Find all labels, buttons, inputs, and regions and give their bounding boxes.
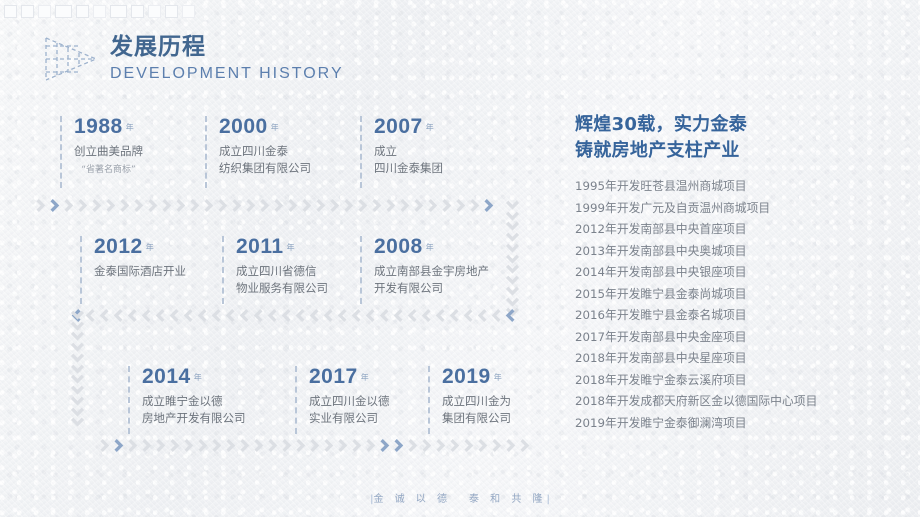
chevron-right-icon <box>408 438 421 453</box>
chevron-down-icon <box>70 353 85 364</box>
chevron-right-icon <box>148 198 161 213</box>
chevron-right-icon <box>240 438 253 453</box>
chevron-right-icon <box>288 198 301 213</box>
chevron-left-icon <box>208 308 221 323</box>
chevron-left-icon <box>264 308 277 323</box>
chevron-down-icon <box>70 331 85 342</box>
project-list-item: 1999年开发广元及自贡温州商城项目 <box>575 198 905 220</box>
chevron-right-icon <box>386 198 399 213</box>
slide-header: 发展历程 DEVELOPMENT HISTORY <box>40 34 344 84</box>
chevron-right-icon <box>260 198 273 213</box>
chevron-right-icon <box>142 438 155 453</box>
chevron-left-icon <box>418 308 431 323</box>
timeline-year: 2012年 <box>94 236 186 258</box>
chevron-right-icon <box>114 438 127 453</box>
chevron-right-icon <box>128 438 141 453</box>
chevron-right-icon <box>316 198 329 213</box>
timeline-year: 2019年 <box>442 366 511 388</box>
chevron-left-icon <box>376 308 389 323</box>
project-list-item: 2018年开发睢宁金泰云溪府项目 <box>575 370 905 392</box>
decorative-square <box>182 5 195 18</box>
year-unit: 年 <box>271 123 280 132</box>
chevron-down-icon <box>70 310 85 321</box>
chevron-left-icon <box>488 308 501 323</box>
chevron-left-icon <box>278 308 291 323</box>
chevron-left-icon <box>222 308 235 323</box>
timeline-description: 成立四川金以德 实业有限公司 <box>309 393 390 426</box>
footer-text-left: 金 诚 以 德 <box>373 494 451 505</box>
chevron-rail-down-left <box>70 310 85 428</box>
chevron-left-icon <box>194 308 207 323</box>
chevron-right-icon <box>198 438 211 453</box>
project-list-item: 1995年开发旺苍县温州商城项目 <box>575 176 905 198</box>
chevron-right-icon <box>282 438 295 453</box>
timeline-entry-2000[interactable]: 2000年 成立四川金泰 纺织集团有限公司 <box>205 116 311 188</box>
chevron-down-icon <box>505 200 520 211</box>
chevron-down-icon <box>505 286 520 297</box>
project-list-item: 2013年开发南部县中央奥城项目 <box>575 241 905 263</box>
project-list: 1995年开发旺苍县温州商城项目1999年开发广元及自贡温州商城项目2012年开… <box>575 176 905 434</box>
chevron-right-icon <box>428 198 441 213</box>
slide-footer: |金 诚 以 德泰 和 共 隆| <box>0 490 920 505</box>
chevron-right-icon <box>358 198 371 213</box>
right-panel: 辉煌30载，实力金泰 铸就房地产支柱产业 1995年开发旺苍县温州商城项目199… <box>575 112 905 434</box>
chevron-right-icon <box>204 198 217 213</box>
chevron-down-icon <box>70 417 85 428</box>
chevron-right-icon <box>344 198 357 213</box>
heading-line-2: 铸就房地产支柱产业 <box>575 140 740 161</box>
chevron-right-icon <box>484 198 497 213</box>
chevron-down-icon <box>505 243 520 254</box>
chevron-down-icon <box>70 396 85 407</box>
timeline-entry-2007[interactable]: 2007年 成立 四川金泰集团 <box>360 116 443 188</box>
decorative-square <box>93 5 106 18</box>
timeline-entry-2019[interactable]: 2019年 成立四川金为 集团有限公司 <box>428 366 511 434</box>
chevron-right-icon <box>400 198 413 213</box>
chevron-rail-row1 <box>36 198 506 213</box>
chevron-right-icon <box>324 438 337 453</box>
chevron-right-icon <box>422 438 435 453</box>
timeline-description: 成立 四川金泰集团 <box>374 143 443 176</box>
chevron-right-icon <box>366 438 379 453</box>
chevron-right-icon <box>470 198 483 213</box>
chevron-right-icon <box>520 438 533 453</box>
chevron-right-icon <box>478 438 491 453</box>
year-unit: 年 <box>146 243 155 252</box>
chevron-right-icon <box>232 198 245 213</box>
chevron-left-icon <box>362 308 375 323</box>
chevron-down-icon <box>70 321 85 332</box>
timeline-entry-2014[interactable]: 2014年 成立睢宁金以德 房地产开发有限公司 <box>128 366 246 434</box>
chevron-right-icon <box>120 198 133 213</box>
timeline-entry-2017[interactable]: 2017年 成立四川金以德 实业有限公司 <box>295 366 390 434</box>
chevron-right-icon <box>436 438 449 453</box>
chevron-right-icon <box>394 438 407 453</box>
chevron-left-icon <box>348 308 361 323</box>
chevron-left-icon <box>180 308 193 323</box>
chevron-right-icon <box>226 438 239 453</box>
chevron-left-icon <box>166 308 179 323</box>
project-list-item: 2018年开发南部县中央星座项目 <box>575 348 905 370</box>
chevron-right-icon <box>184 438 197 453</box>
chevron-right-icon <box>296 438 309 453</box>
chevron-right-icon <box>274 198 287 213</box>
chevron-left-icon <box>152 308 165 323</box>
chevron-left-icon <box>404 308 417 323</box>
decorative-square <box>55 5 72 18</box>
chevron-down-icon <box>70 407 85 418</box>
chevron-down-icon <box>70 364 85 375</box>
chevron-right-icon <box>372 198 385 213</box>
project-list-item: 2019年开发睢宁金泰御澜湾项目 <box>575 413 905 435</box>
project-list-item: 2016年开发睢宁县金泰名城项目 <box>575 305 905 327</box>
chevron-right-icon <box>456 198 469 213</box>
chevron-right-icon <box>442 198 455 213</box>
chevron-right-icon <box>380 438 393 453</box>
dashed-triangle-logo-icon <box>40 34 100 84</box>
chevron-right-icon <box>506 438 519 453</box>
timeline-subnote: “省著名商标” <box>74 162 143 175</box>
chevron-right-icon <box>162 198 175 213</box>
chevron-right-icon <box>352 438 365 453</box>
chevron-left-icon <box>236 308 249 323</box>
timeline: 1988年 创立曲美品牌 “省著名商标” 2000年 成立四川金泰 纺织集团有限… <box>0 108 560 468</box>
project-list-item: 2014年开发南部县中央银座项目 <box>575 262 905 284</box>
chevron-right-icon <box>176 198 189 213</box>
footer-text-right: 泰 和 共 隆 <box>469 494 547 505</box>
chevron-down-icon <box>70 342 85 353</box>
chevron-left-icon <box>124 308 137 323</box>
decorative-square <box>131 5 144 18</box>
chevron-down-icon <box>505 232 520 243</box>
chevron-right-icon <box>338 438 351 453</box>
chevron-right-icon <box>36 198 49 213</box>
chevron-right-icon <box>106 198 119 213</box>
chevron-left-icon <box>250 308 263 323</box>
chevron-right-icon <box>254 438 267 453</box>
chevron-right-icon <box>414 198 427 213</box>
footer-bar-right: | <box>547 494 550 505</box>
timeline-year: 2014年 <box>142 366 246 388</box>
chevron-right-icon <box>92 198 105 213</box>
timeline-description: 金泰国际酒店开业 <box>94 263 186 280</box>
timeline-description: 成立睢宁金以德 房地产开发有限公司 <box>142 393 246 426</box>
decorative-square <box>110 5 127 18</box>
decorative-squares <box>4 5 195 18</box>
chevron-down-icon <box>505 275 520 286</box>
chevron-right-icon <box>302 198 315 213</box>
timeline-year: 2011年 <box>236 236 328 258</box>
chevron-right-icon <box>246 198 259 213</box>
chevron-rail-row3 <box>100 438 540 453</box>
chevron-right-icon <box>190 198 203 213</box>
timeline-year: 1988年 <box>74 116 143 138</box>
timeline-year: 2017年 <box>309 366 390 388</box>
chevron-right-icon <box>78 198 91 213</box>
chevron-right-icon <box>218 198 231 213</box>
timeline-year: 2007年 <box>374 116 443 138</box>
chevron-rail-row2 <box>68 308 518 323</box>
chevron-right-icon <box>330 198 343 213</box>
timeline-year: 2008年 <box>374 236 489 258</box>
chevron-right-icon <box>156 438 169 453</box>
right-panel-heading: 辉煌30载，实力金泰 铸就房地产支柱产业 <box>575 112 905 164</box>
chevron-rail-down-right <box>505 200 520 318</box>
timeline-description: 成立南部县金宇房地产 开发有限公司 <box>374 263 489 296</box>
project-list-item: 2017年开发南部县中央金座项目 <box>575 327 905 349</box>
chevron-right-icon <box>64 198 77 213</box>
chevron-right-icon <box>464 438 477 453</box>
decorative-square <box>4 5 17 18</box>
chevron-down-icon <box>70 385 85 396</box>
year-unit: 年 <box>194 373 203 382</box>
chevron-down-icon <box>505 221 520 232</box>
chevron-right-icon <box>134 198 147 213</box>
chevron-right-icon <box>492 438 505 453</box>
chevron-left-icon <box>334 308 347 323</box>
chevron-right-icon <box>100 438 113 453</box>
chevron-right-icon <box>310 438 323 453</box>
timeline-entry-2012[interactable]: 2012年 金泰国际酒店开业 <box>80 236 186 304</box>
timeline-entry-2008[interactable]: 2008年 成立南部县金宇房地产 开发有限公司 <box>360 236 489 304</box>
page-subtitle: DEVELOPMENT HISTORY <box>110 66 344 82</box>
chevron-left-icon <box>110 308 123 323</box>
chevron-left-icon <box>390 308 403 323</box>
year-unit: 年 <box>287 243 296 252</box>
timeline-entry-1988[interactable]: 1988年 创立曲美品牌 “省著名商标” <box>60 116 143 188</box>
timeline-description: 成立四川省德信 物业服务有限公司 <box>236 263 328 296</box>
chevron-right-icon <box>50 198 63 213</box>
timeline-description: 成立四川金为 集团有限公司 <box>442 393 511 426</box>
project-list-item: 2012年开发南部县中央首座项目 <box>575 219 905 241</box>
chevron-left-icon <box>292 308 305 323</box>
chevron-left-icon <box>138 308 151 323</box>
year-unit: 年 <box>494 373 503 382</box>
decorative-square <box>21 5 34 18</box>
chevron-left-icon <box>474 308 487 323</box>
decorative-square <box>76 5 89 18</box>
chevron-left-icon <box>96 308 109 323</box>
chevron-left-icon <box>502 308 515 323</box>
chevron-right-icon <box>268 438 281 453</box>
project-list-item: 2018年开发成都天府新区金以德国际中心项目 <box>575 391 905 413</box>
chevron-right-icon <box>170 438 183 453</box>
chevron-left-icon <box>432 308 445 323</box>
decorative-square <box>38 5 51 18</box>
year-unit: 年 <box>426 123 435 132</box>
chevron-right-icon <box>450 438 463 453</box>
timeline-entry-2011[interactable]: 2011年 成立四川省德信 物业服务有限公司 <box>222 236 328 304</box>
year-unit: 年 <box>126 123 135 132</box>
chevron-left-icon <box>320 308 333 323</box>
chevron-down-icon <box>505 211 520 222</box>
chevron-down-icon <box>505 254 520 265</box>
chevron-down-icon <box>505 297 520 308</box>
chevron-left-icon <box>306 308 319 323</box>
timeline-year: 2000年 <box>219 116 311 138</box>
chevron-down-icon <box>505 264 520 275</box>
decorative-square <box>148 5 161 18</box>
decorative-square <box>165 5 178 18</box>
project-list-item: 2015年开发睢宁县金泰尚城项目 <box>575 284 905 306</box>
chevron-left-icon <box>460 308 473 323</box>
year-unit: 年 <box>361 373 370 382</box>
timeline-description: 成立四川金泰 纺织集团有限公司 <box>219 143 311 176</box>
chevron-right-icon <box>212 438 225 453</box>
year-unit: 年 <box>426 243 435 252</box>
chevron-left-icon <box>446 308 459 323</box>
heading-line-1: 辉煌30载，实力金泰 <box>575 114 747 135</box>
timeline-description: 创立曲美品牌 <box>74 143 143 160</box>
chevron-down-icon <box>70 374 85 385</box>
page-title: 发展历程 <box>110 36 344 59</box>
